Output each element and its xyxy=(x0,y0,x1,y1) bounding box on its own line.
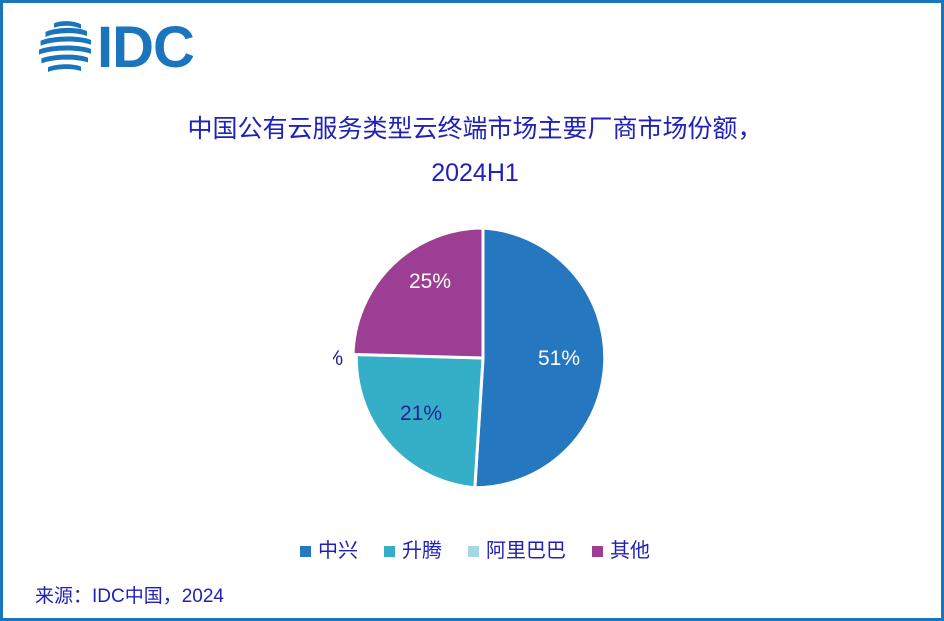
pie-label-alibaba: 3% xyxy=(333,347,343,370)
idc-globe-icon xyxy=(33,19,95,77)
pie-chart-svg: 51% 21% 3% 25% xyxy=(333,208,633,513)
idc-logo: IDC xyxy=(33,17,194,79)
chart-title-line-2: 2024H1 xyxy=(83,151,867,195)
legend-label-other: 其他 xyxy=(610,540,650,562)
legend-swatch-zte xyxy=(300,546,311,557)
legend-label-alibaba: 阿里巴巴 xyxy=(486,540,566,562)
legend-item-other[interactable]: 其他 xyxy=(592,540,650,562)
legend-label-shengteng: 升腾 xyxy=(402,540,442,562)
legend-label-zte: 中兴 xyxy=(318,540,358,562)
legend-item-shengteng[interactable]: 升腾 xyxy=(384,540,442,562)
pie-label-shengteng: 21% xyxy=(400,402,442,425)
chart-title-line-1: 中国公有云服务类型云终端市场主要厂商市场份额， xyxy=(83,107,867,151)
idc-logo-text: IDC xyxy=(97,19,194,77)
chart-legend: 中兴 升腾 阿里巴巴 其他 xyxy=(3,540,944,562)
pie-chart: 51% 21% 3% 25% xyxy=(333,208,633,513)
legend-item-zte[interactable]: 中兴 xyxy=(300,540,358,562)
pie-slice-other[interactable] xyxy=(353,228,483,358)
pie-label-zte: 51% xyxy=(538,347,580,370)
chart-title: 中国公有云服务类型云终端市场主要厂商市场份额， 2024H1 xyxy=(83,107,867,195)
legend-swatch-alibaba xyxy=(468,546,479,557)
source-note: 来源：IDC中国，2024 xyxy=(35,581,224,608)
pie-label-other: 25% xyxy=(409,270,451,293)
legend-swatch-other xyxy=(592,546,603,557)
chart-page: IDC 中国公有云服务类型云终端市场主要厂商市场份额， 2024H1 51% 2… xyxy=(0,0,944,621)
legend-item-alibaba[interactable]: 阿里巴巴 xyxy=(468,540,566,562)
legend-swatch-shengteng xyxy=(384,546,395,557)
